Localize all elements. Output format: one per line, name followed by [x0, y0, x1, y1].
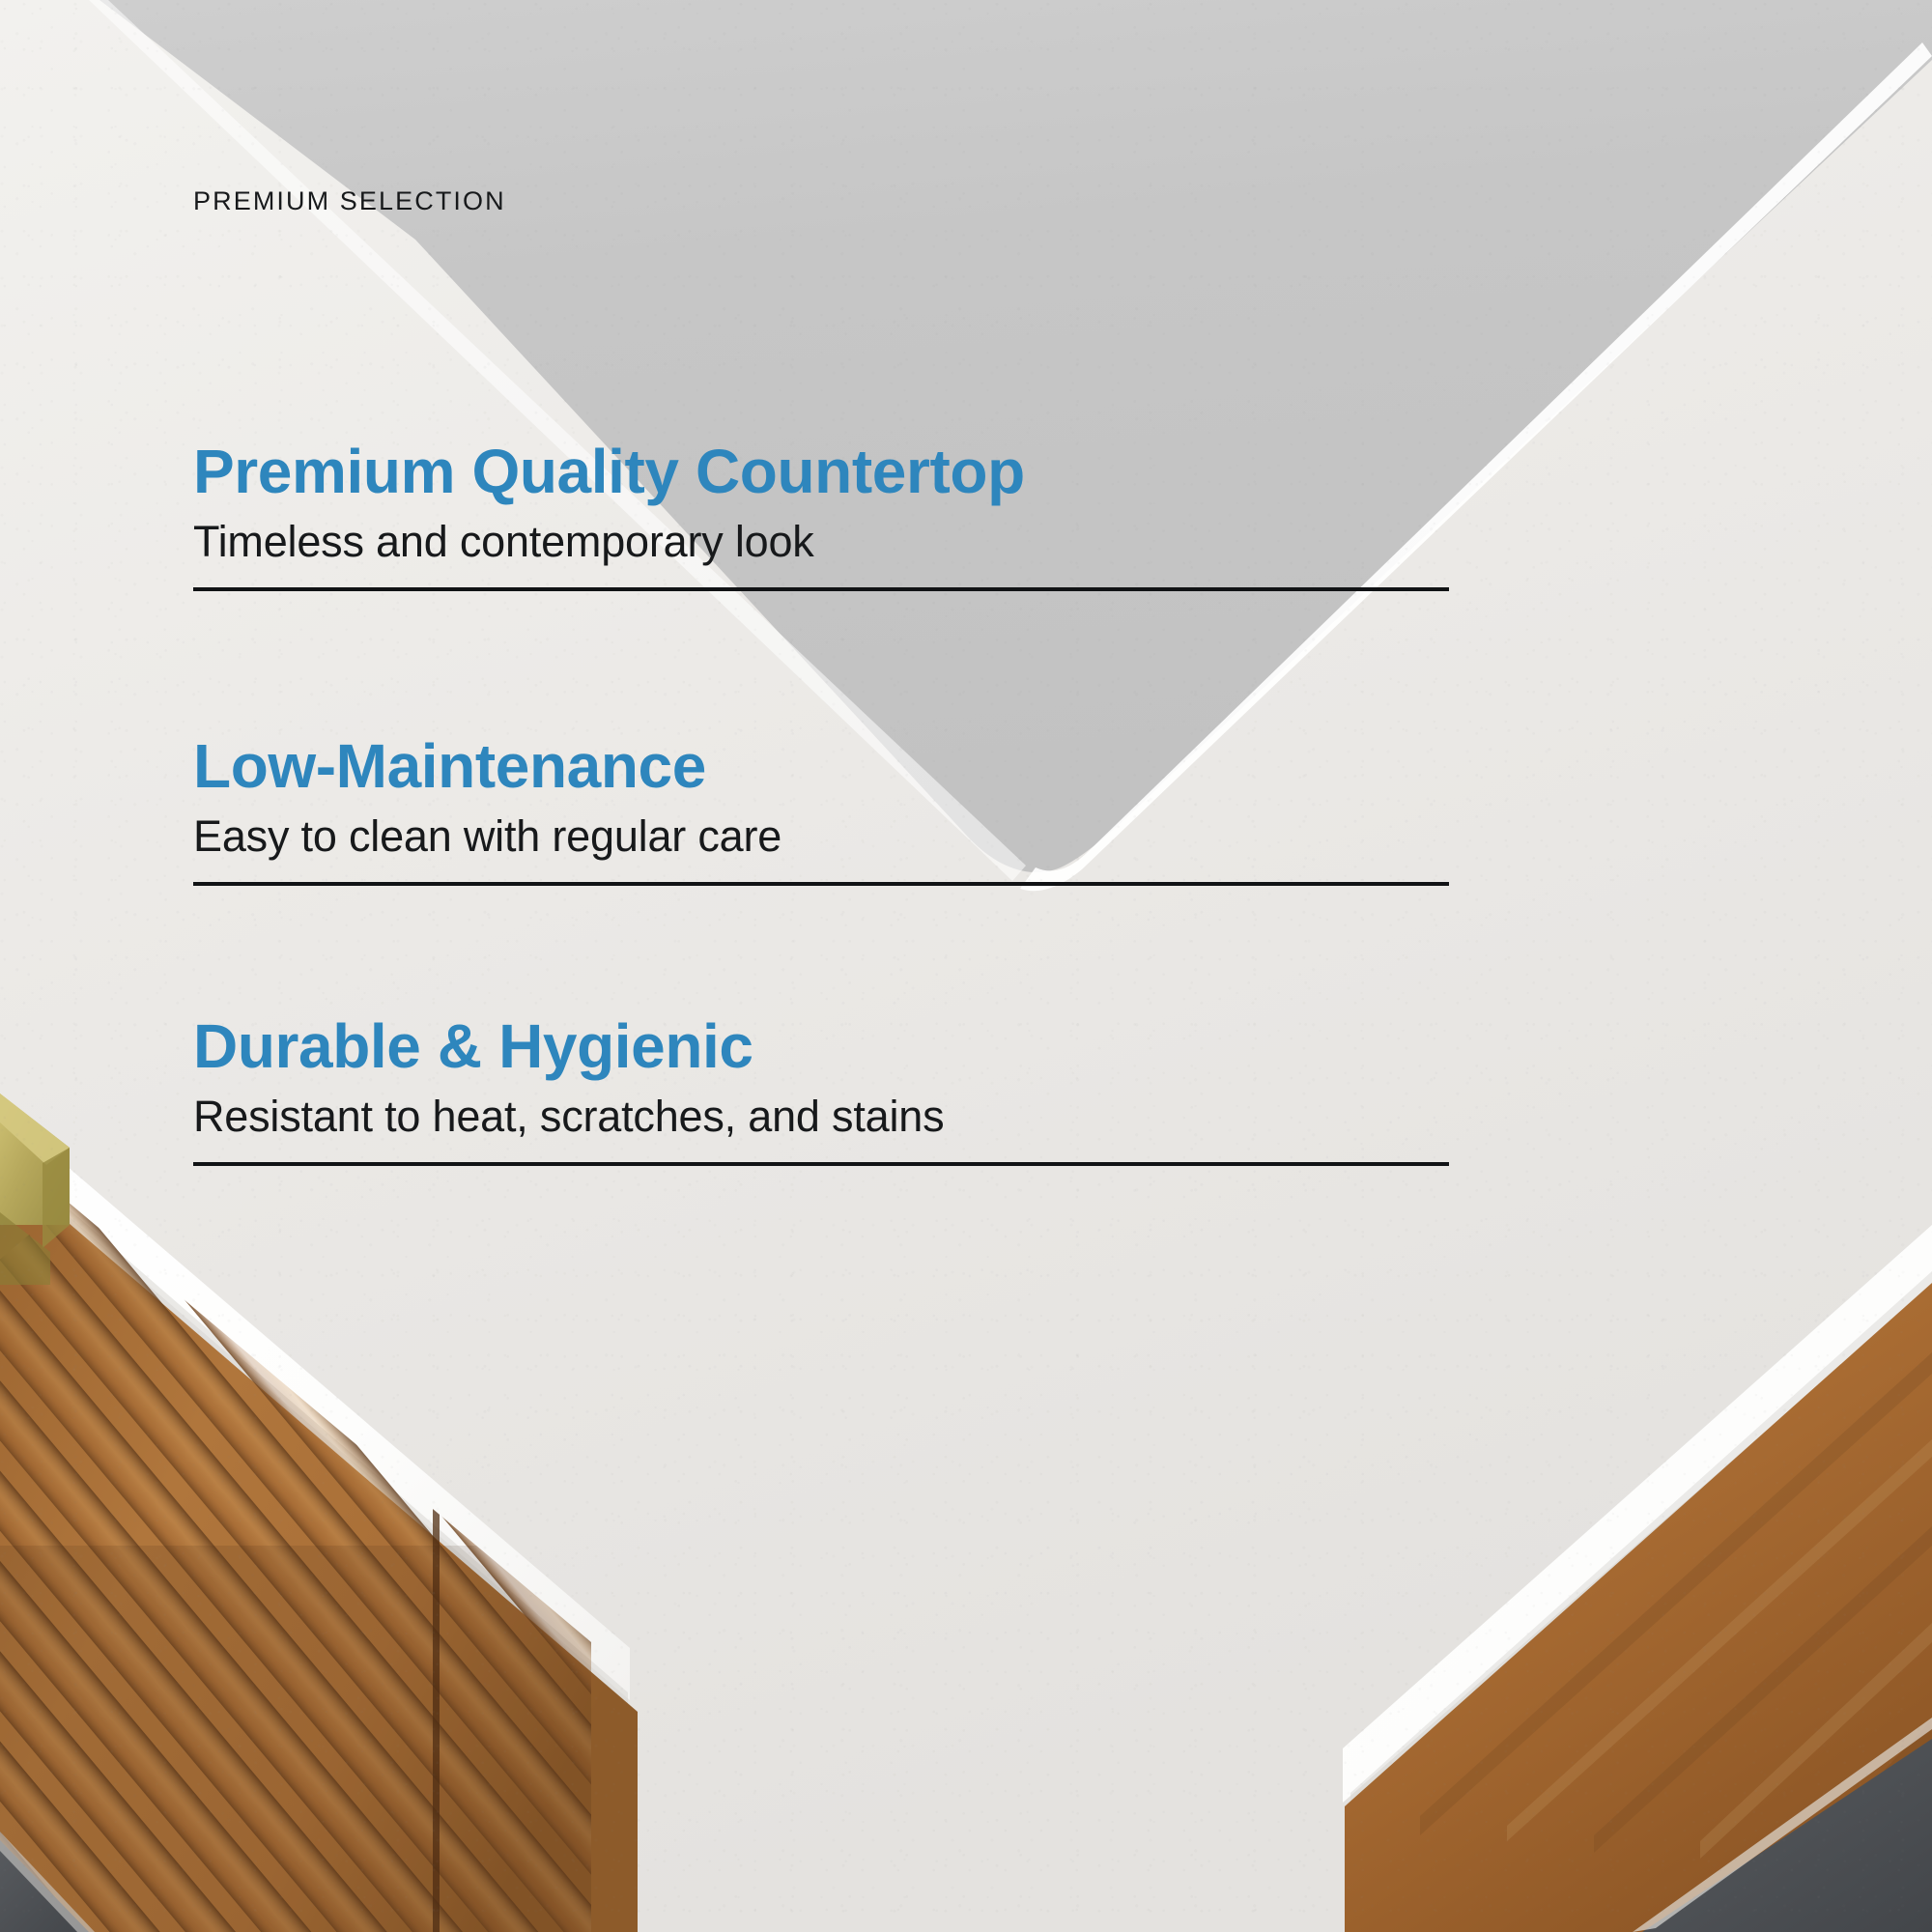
feature-block-1: Premium Quality Countertop Timeless and …: [193, 440, 1449, 591]
feature-divider: [193, 587, 1449, 591]
eyebrow-label: PREMIUM SELECTION: [193, 186, 506, 216]
feature-subtitle: Resistant to heat, scratches, and stains: [193, 1093, 1449, 1141]
feature-subtitle: Timeless and contemporary look: [193, 518, 1449, 566]
feature-title: Premium Quality Countertop: [193, 440, 1449, 504]
feature-block-2: Low-Maintenance Easy to clean with regul…: [193, 734, 1449, 886]
feature-block-3: Durable & Hygienic Resistant to heat, sc…: [193, 1014, 1449, 1166]
copy-column: PREMIUM SELECTION Premium Quality Counte…: [193, 0, 1488, 1932]
feature-subtitle: Easy to clean with regular care: [193, 812, 1449, 861]
feature-divider: [193, 1162, 1449, 1166]
feature-divider: [193, 882, 1449, 886]
promo-graphic: PREMIUM SELECTION Premium Quality Counte…: [0, 0, 1932, 1932]
feature-title: Low-Maintenance: [193, 734, 1449, 799]
feature-title: Durable & Hygienic: [193, 1014, 1449, 1079]
